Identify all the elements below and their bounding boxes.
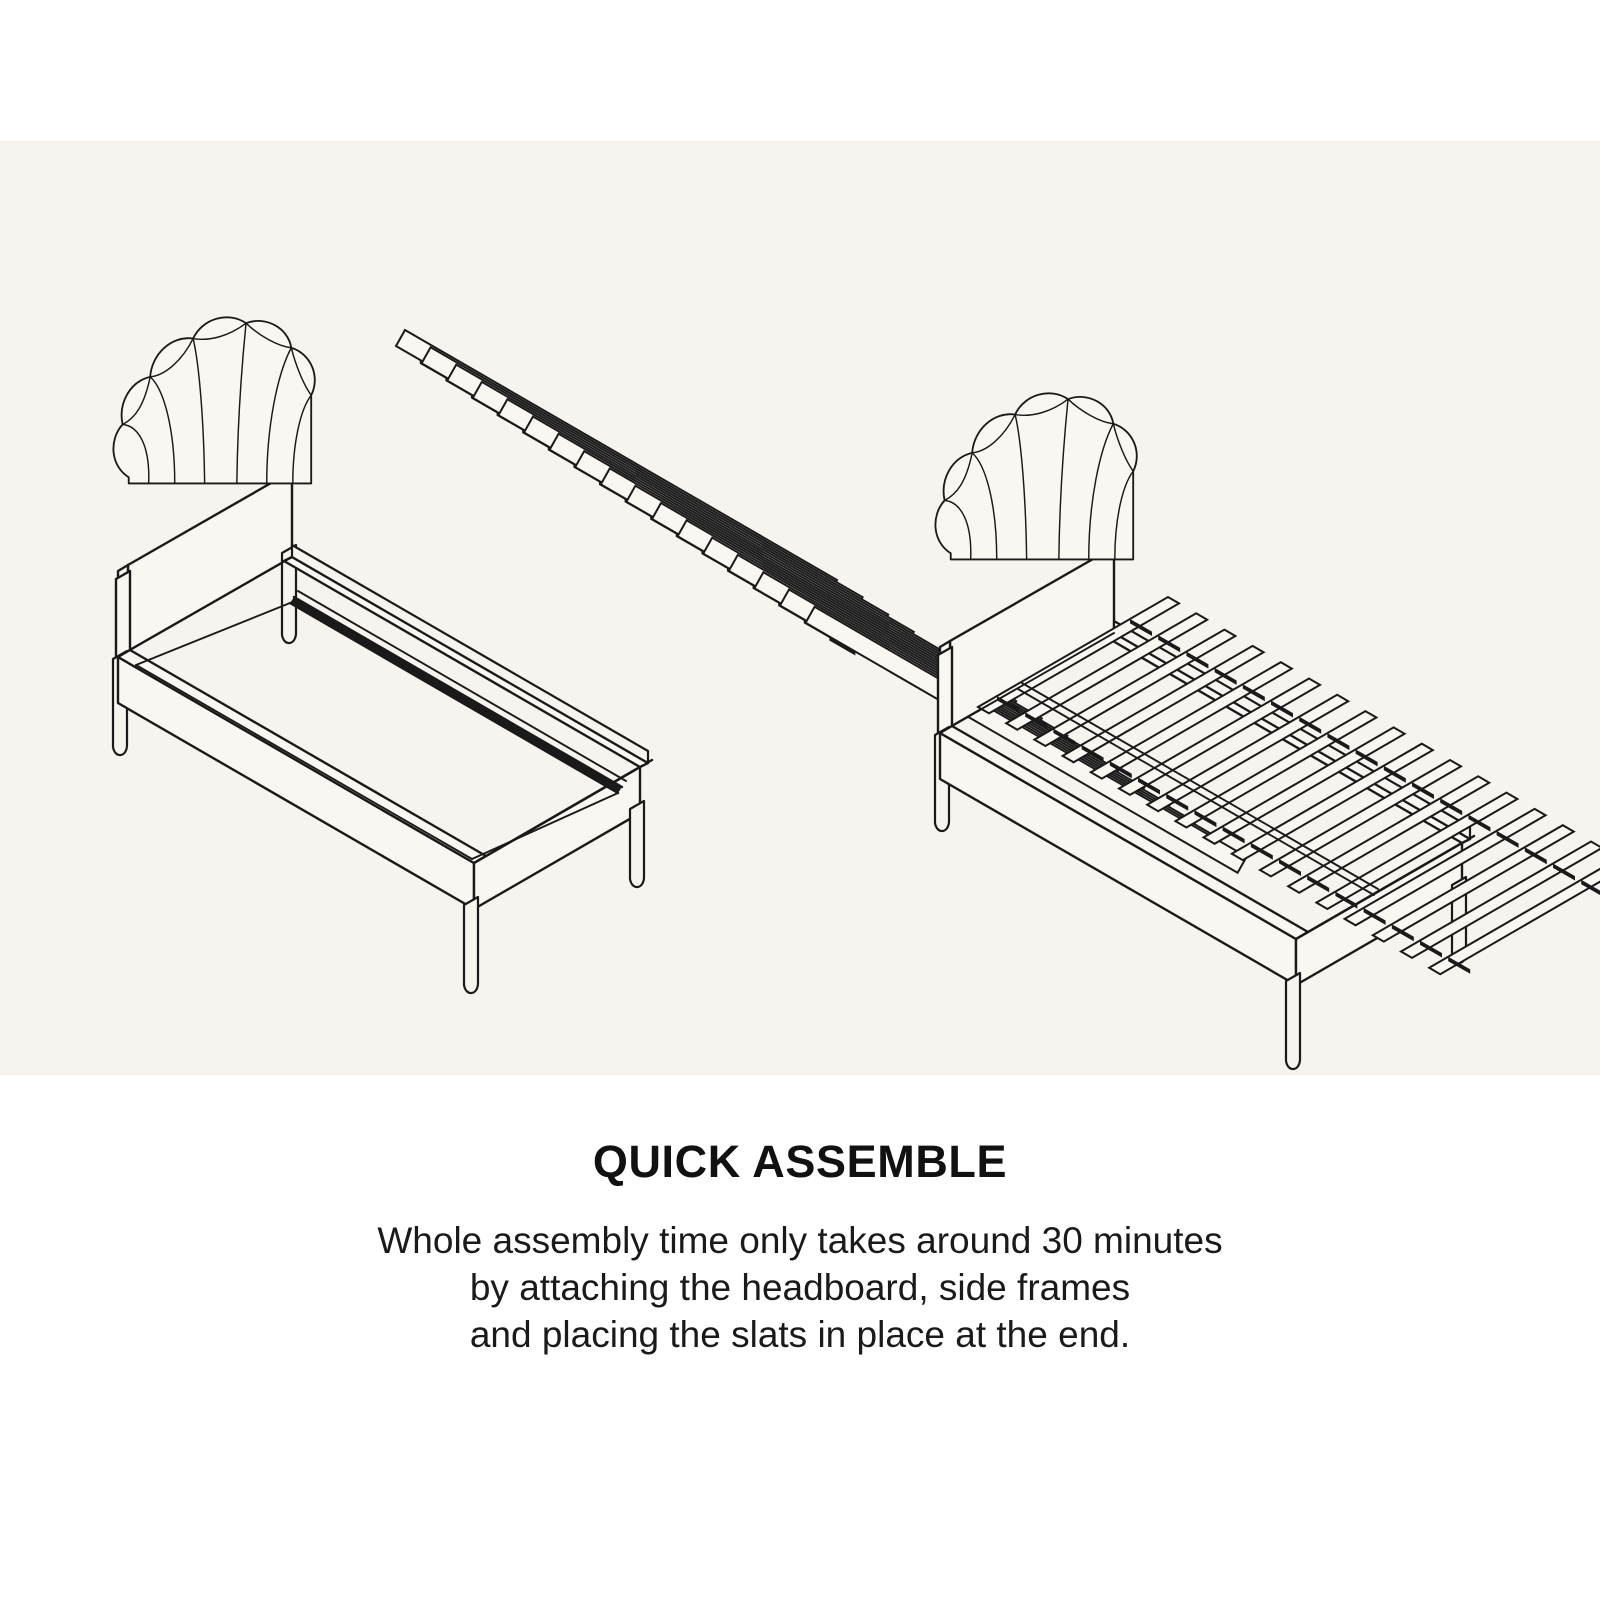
- caption-block: QUICK ASSEMBLE Whole assembly time only …: [0, 1075, 1600, 1600]
- installed-slats: [978, 597, 1600, 974]
- caption-line-2: by attaching the headboard, side frames: [0, 1264, 1600, 1311]
- figure-bed-frame-unassembled: [113, 317, 652, 909]
- caption-line-1: Whole assembly time only takes around 30…: [0, 1217, 1600, 1264]
- product-feature-page: .ln { fill:none; stroke:#1a1a1a; stroke-…: [0, 0, 1600, 1600]
- caption-line-3: and placing the slats in place at the en…: [0, 1311, 1600, 1358]
- bed-side-rail-far-left: [284, 545, 648, 767]
- bed-side-rail-near-left: [118, 650, 486, 909]
- figure-slat-panel: [396, 330, 1247, 873]
- hero-illustration-panel: .ln { fill:none; stroke:#1a1a1a; stroke-…: [0, 141, 1600, 1075]
- shell-headboard-left: [113, 317, 314, 483]
- bed-assembly-diagram: .ln { fill:none; stroke:#1a1a1a; stroke-…: [0, 141, 1600, 1075]
- headboard-panel: [118, 471, 292, 657]
- headboard-panel-right: [940, 547, 1114, 733]
- page-title: QUICK ASSEMBLE: [0, 1136, 1600, 1188]
- slat-support-ledge-left: [290, 591, 626, 793]
- bed-foot-rail-left: [474, 760, 652, 909]
- caption-body: Whole assembly time only takes around 30…: [0, 1217, 1600, 1358]
- shell-headboard-right: [935, 393, 1136, 559]
